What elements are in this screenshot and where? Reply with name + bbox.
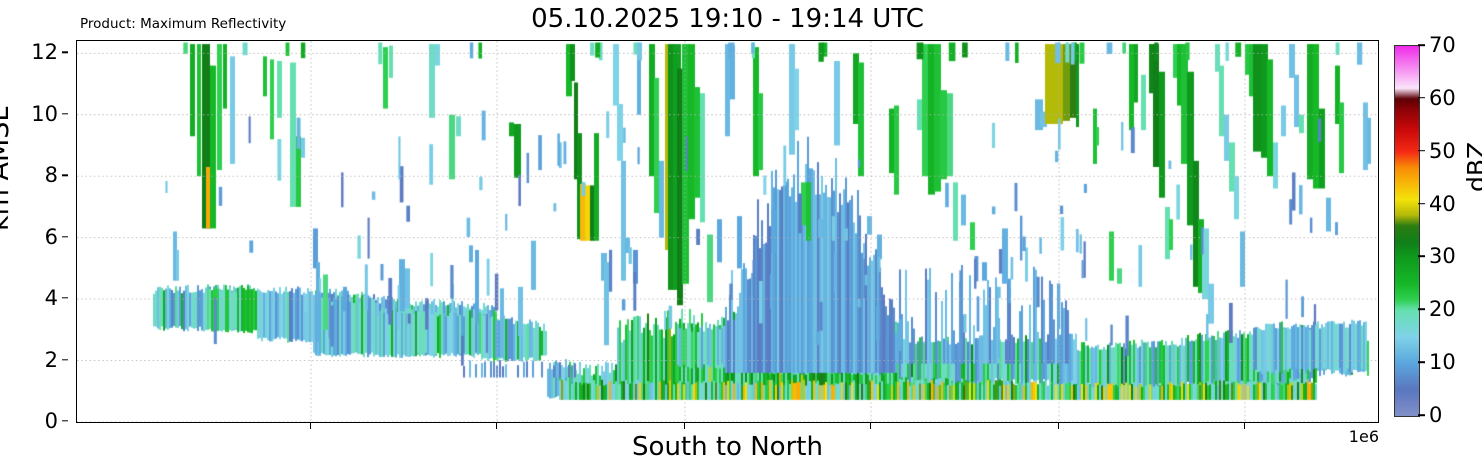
y-tick-label: 12 <box>31 40 58 64</box>
radar-cross-section-figure: Product: Maximum Reflectivity 05.10.2025… <box>0 0 1482 470</box>
page-title: 05.10.2025 19:10 - 19:14 UTC <box>76 4 1379 34</box>
colorbar-tick-label: 40 <box>1429 192 1456 216</box>
colorbar-gradient <box>1394 45 1420 417</box>
y-tick-mark <box>62 113 68 114</box>
colorbar <box>1394 45 1418 415</box>
colorbar-tick-label: 50 <box>1429 139 1456 163</box>
x-axis-title: South to North <box>76 432 1379 462</box>
colorbar-tick-label: 20 <box>1429 297 1456 321</box>
colorbar-tick-mark <box>1418 97 1425 99</box>
colorbar-tick-mark <box>1418 308 1425 310</box>
y-tick-label: 0 <box>45 409 58 433</box>
y-tick-mark <box>62 174 68 175</box>
y-axis-ticks: 024681012 <box>0 40 68 423</box>
x-axis-offset-label: 1e6 <box>1349 427 1379 446</box>
x-tick-mark <box>310 423 311 429</box>
x-tick-mark <box>870 423 871 429</box>
plot-area <box>76 40 1379 423</box>
reflectivity-heatmap <box>77 41 1378 422</box>
colorbar-tick-mark <box>1418 44 1425 46</box>
colorbar-ticks: 010203040506070 <box>1418 45 1478 415</box>
y-tick-label: 4 <box>45 286 58 310</box>
y-tick-label: 8 <box>45 163 58 187</box>
y-tick-mark <box>62 236 68 237</box>
y-tick-mark <box>62 52 68 53</box>
colorbar-tick-label: 30 <box>1429 244 1456 268</box>
y-tick-label: 6 <box>45 225 58 249</box>
colorbar-title: dBZ <box>1462 142 1482 192</box>
colorbar-tick-mark <box>1418 361 1425 363</box>
colorbar-tick-mark <box>1418 150 1425 152</box>
colorbar-tick-label: 70 <box>1429 33 1456 57</box>
colorbar-tick-label: 10 <box>1429 350 1456 374</box>
colorbar-tick-mark <box>1418 414 1425 416</box>
colorbar-tick-mark <box>1418 203 1425 205</box>
colorbar-tick-mark <box>1418 256 1425 258</box>
x-tick-mark <box>684 423 685 429</box>
x-tick-mark <box>1244 423 1245 429</box>
y-tick-label: 10 <box>31 102 58 126</box>
x-tick-mark <box>496 423 497 429</box>
colorbar-tick-label: 0 <box>1429 403 1442 427</box>
y-tick-mark <box>62 297 68 298</box>
x-tick-mark <box>1058 423 1059 429</box>
colorbar-tick-label: 60 <box>1429 86 1456 110</box>
y-tick-label: 2 <box>45 348 58 372</box>
y-tick-mark <box>62 359 68 360</box>
y-tick-mark <box>62 420 68 421</box>
